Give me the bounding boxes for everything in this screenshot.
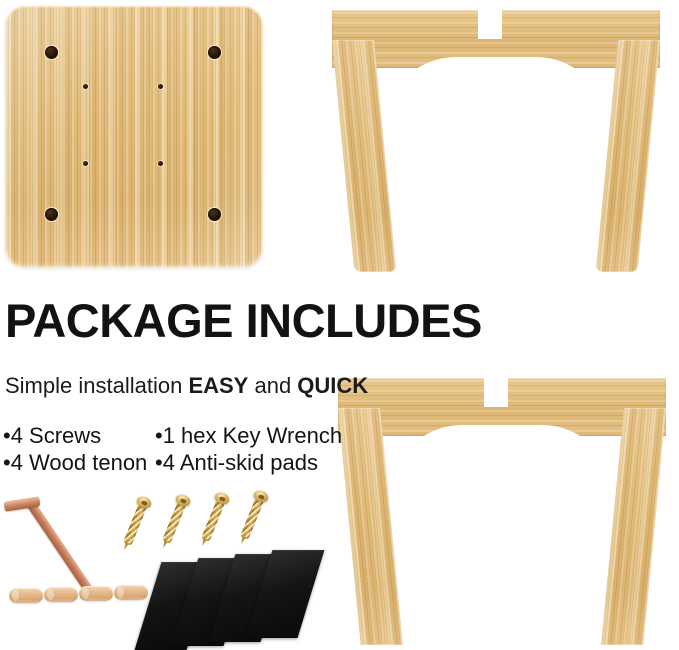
panel-sheen bbox=[5, 6, 263, 268]
screw-icon-4 bbox=[235, 492, 268, 549]
wrench-long-arm bbox=[26, 500, 96, 598]
wood-tenon-icon-2 bbox=[44, 587, 78, 602]
panel-hole-bottom-left bbox=[45, 208, 58, 221]
leg-frame-bottom-arch-cutout bbox=[390, 425, 614, 650]
screw-tip bbox=[239, 536, 246, 545]
list-item-tenons: •4 Wood tenon bbox=[3, 449, 155, 476]
seat-panel bbox=[5, 6, 263, 268]
parts-list-row: •4 Screws •1 hex Key Wrench bbox=[3, 422, 343, 449]
tagline-pre: Simple installation bbox=[5, 373, 188, 398]
screw-tip bbox=[161, 540, 168, 549]
screw-tip bbox=[122, 542, 129, 551]
screw-icon-3 bbox=[196, 494, 229, 551]
wood-tenon-icon-3 bbox=[79, 586, 113, 601]
panel-pilot-hole-top-right bbox=[158, 84, 163, 89]
leg-frame-top bbox=[332, 10, 660, 272]
tagline-mid: and bbox=[248, 373, 297, 398]
panel-hole-top-left bbox=[45, 46, 58, 59]
panel-pilot-hole-top-left bbox=[83, 84, 88, 89]
hex-key-wrench-icon bbox=[6, 497, 128, 563]
leg-frame-top-arch-cutout bbox=[384, 57, 608, 277]
list-item-screws: •4 Screws bbox=[3, 422, 155, 449]
panel-pilot-hole-bottom-right bbox=[158, 161, 163, 166]
page-title: PACKAGE INCLUDES bbox=[5, 296, 625, 346]
package-includes-infographic: PACKAGE INCLUDES Simple installation EAS… bbox=[0, 0, 679, 645]
panel-hole-bottom-right bbox=[208, 208, 221, 221]
panel-hole-top-right bbox=[208, 46, 221, 59]
installation-tagline: Simple installation EASY and QUICK bbox=[5, 373, 368, 399]
list-item-pads: •4 Anti-skid pads bbox=[155, 449, 318, 476]
parts-list: •4 Screws •1 hex Key Wrench •4 Wood teno… bbox=[3, 422, 343, 476]
screw-shaft bbox=[201, 498, 226, 542]
tagline-quick: QUICK bbox=[297, 373, 368, 398]
parts-list-row: •4 Wood tenon •4 Anti-skid pads bbox=[3, 449, 343, 476]
screw-shaft bbox=[240, 496, 265, 540]
leg-frame-bottom bbox=[338, 378, 666, 645]
wood-tenon-icon-4 bbox=[114, 585, 148, 600]
screw-shaft bbox=[162, 500, 187, 544]
screw-icon-2 bbox=[157, 496, 190, 553]
wood-tenon-icon-1 bbox=[9, 588, 43, 603]
tagline-easy: EASY bbox=[188, 373, 248, 398]
leg-frame-top-notch bbox=[478, 10, 502, 39]
list-item-wrench: •1 hex Key Wrench bbox=[155, 422, 342, 449]
leg-frame-bottom-notch bbox=[484, 378, 508, 407]
panel-pilot-hole-bottom-left bbox=[83, 161, 88, 166]
screw-tip bbox=[200, 538, 207, 547]
